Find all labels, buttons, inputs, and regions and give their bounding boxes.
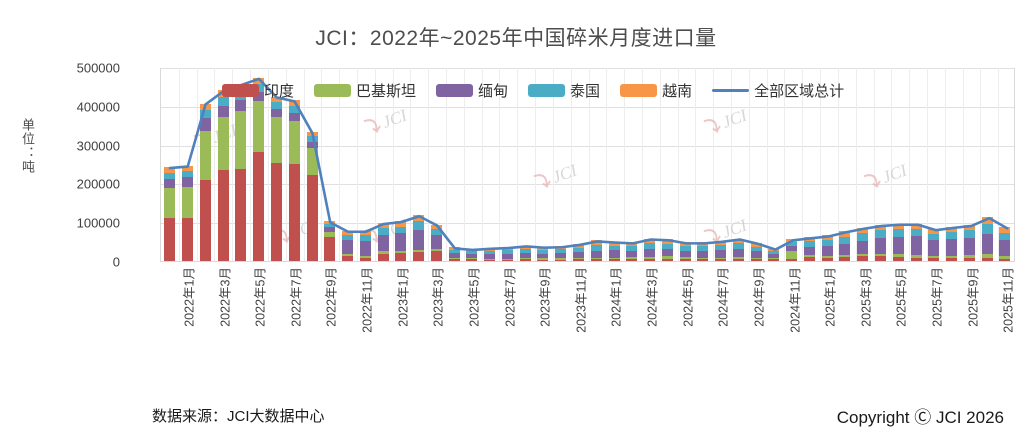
- bar-segment-thailand: [964, 230, 975, 238]
- bar-segment-pakistan: [271, 117, 282, 163]
- stacked-bar[interactable]: [609, 242, 620, 261]
- x-tick-slot: [178, 265, 196, 375]
- bar-segment-pakistan: [218, 117, 229, 169]
- y-tick-label: 100000: [30, 216, 120, 231]
- bar-segment-india: [946, 258, 957, 261]
- bar-segment-india: [502, 260, 513, 261]
- legend-label: 印度: [264, 80, 294, 101]
- bar-segment-thailand: [857, 233, 868, 241]
- x-tick-slot: 2022年7月: [267, 265, 285, 375]
- stacked-bar[interactable]: [875, 225, 886, 261]
- bar-segment-india: [893, 257, 904, 261]
- legend-item-india[interactable]: 印度: [222, 80, 294, 101]
- stacked-bar[interactable]: [307, 132, 318, 261]
- stacked-bar[interactable]: [395, 221, 406, 261]
- bar-segment-thailand: [395, 227, 406, 234]
- bar-segment-thailand: [289, 106, 300, 113]
- x-tick-slot: 2024年3月: [623, 265, 641, 375]
- bar-segment-india: [395, 253, 406, 261]
- x-tick-slot: 2025年7月: [908, 265, 926, 375]
- stacked-bar[interactable]: [911, 224, 922, 261]
- x-tick-slot: 2024年9月: [730, 265, 748, 375]
- stacked-bar[interactable]: [324, 221, 335, 261]
- stacked-bar[interactable]: [644, 239, 655, 261]
- bar-segment-india: [839, 257, 850, 261]
- bar-segment-india: [413, 252, 424, 261]
- x-tick-slot: [213, 265, 231, 375]
- stacked-bar[interactable]: [218, 90, 229, 261]
- x-tick-slot: [997, 265, 1015, 375]
- legend-line-icon: [712, 89, 749, 92]
- x-tick-slot: 2025年5月: [873, 265, 891, 375]
- stacked-bar[interactable]: [271, 97, 282, 261]
- bar-segment-myanmar: [839, 244, 850, 256]
- stacked-bar[interactable]: [999, 227, 1010, 261]
- x-tick-slot: [498, 265, 516, 375]
- bar-segment-pakistan: [235, 111, 246, 169]
- legend-item-myanmar[interactable]: 缅甸: [436, 80, 508, 101]
- x-tick-slot: 2022年3月: [196, 265, 214, 375]
- x-tick-slot: [712, 265, 730, 375]
- bar-segment-india: [484, 260, 495, 261]
- legend-swatch-icon: [620, 84, 657, 97]
- stacked-bar[interactable]: [839, 231, 850, 261]
- x-tick-slot: [677, 265, 695, 375]
- bar-slot: [960, 68, 978, 261]
- y-tick-label: 300000: [30, 138, 120, 153]
- bar-segment-india: [182, 218, 193, 261]
- chart-root: JCI：2022年~2025年中国碎米月度进口量 单位：吨 0100000200…: [0, 0, 1032, 441]
- bar-segment-myanmar: [644, 249, 655, 258]
- x-tick-slot: 2023年1月: [374, 265, 392, 375]
- stacked-bar[interactable]: [360, 231, 371, 261]
- bar-segment-myanmar: [964, 238, 975, 255]
- bar-segment-thailand: [875, 230, 886, 238]
- copyright-note: Copyright Ⓒ JCI 2026: [837, 403, 1004, 428]
- bar-segment-india: [768, 259, 779, 261]
- bar-segment-india: [164, 218, 175, 261]
- stacked-bar[interactable]: [502, 247, 513, 261]
- x-tick-slot: 2025年3月: [837, 265, 855, 375]
- bar-slot: [996, 68, 1014, 261]
- stacked-bar[interactable]: [413, 215, 424, 261]
- bar-segment-india: [360, 258, 371, 261]
- stacked-bar[interactable]: [822, 235, 833, 261]
- x-axis-labels: 2022年1月2022年3月2022年5月2022年7月2022年9月2022年…: [160, 265, 1015, 375]
- stacked-bar[interactable]: [253, 78, 264, 261]
- x-tick-slot: 2022年5月: [231, 265, 249, 375]
- bar-slot: [161, 68, 179, 261]
- bar-segment-india: [520, 259, 531, 261]
- bar-segment-pakistan: [253, 101, 264, 151]
- bar-segment-myanmar: [928, 240, 939, 256]
- x-tick-slot: [570, 265, 588, 375]
- chart-title: JCI：2022年~2025年中国碎米月度进口量: [0, 22, 1032, 52]
- stacked-bar[interactable]: [555, 246, 566, 261]
- x-tick-slot: 2024年7月: [694, 265, 712, 375]
- bar-segment-pakistan: [164, 188, 175, 218]
- bar-segment-myanmar: [875, 238, 886, 254]
- bar-segment-pakistan: [200, 131, 211, 181]
- bar-segment-india: [999, 259, 1010, 261]
- stacked-bar[interactable]: [182, 166, 193, 261]
- x-tick-slot: 2025年1月: [801, 265, 819, 375]
- bar-segment-myanmar: [733, 249, 744, 258]
- bar-segment-myanmar: [946, 239, 957, 255]
- legend-item-total[interactable]: 全部区域总计: [712, 80, 844, 101]
- bar-segment-india: [307, 175, 318, 261]
- bar-slot: [197, 68, 215, 261]
- stacked-bar[interactable]: [715, 241, 726, 261]
- bar-segment-india: [573, 259, 584, 261]
- bar-segment-india: [715, 259, 726, 261]
- stacked-bar[interactable]: [697, 242, 708, 261]
- stacked-bar[interactable]: [289, 100, 300, 261]
- x-tick-slot: [641, 265, 659, 375]
- legend-label: 全部区域总计: [754, 80, 844, 101]
- bar-segment-india: [751, 259, 762, 261]
- bar-segment-india: [537, 260, 548, 261]
- stacked-bar[interactable]: [662, 239, 673, 261]
- bar-slot: [978, 68, 996, 261]
- stacked-bar[interactable]: [449, 247, 460, 261]
- x-tick-slot: 2022年9月: [303, 265, 321, 375]
- bar-slot: [179, 68, 197, 261]
- bar-segment-thailand: [911, 229, 922, 236]
- bar-segment-india: [235, 169, 246, 261]
- bar-segment-india: [911, 258, 922, 261]
- bar-segment-thailand: [200, 110, 211, 118]
- x-tick-slot: [819, 265, 837, 375]
- x-tick-slot: [605, 265, 623, 375]
- bar-segment-myanmar: [413, 230, 424, 250]
- bar-segment-india: [680, 259, 691, 261]
- bar-segment-india: [697, 259, 708, 261]
- bar-segment-vietnam: [982, 217, 993, 224]
- bar-segment-india: [431, 251, 442, 261]
- x-tick-slot: 2024年5月: [659, 265, 677, 375]
- bar-segment-india: [875, 256, 886, 261]
- bar-segment-myanmar: [697, 251, 708, 258]
- legend-swatch-icon: [436, 84, 473, 97]
- stacked-bar[interactable]: [431, 225, 442, 261]
- bar-segment-pakistan: [289, 121, 300, 164]
- legend-item-thailand[interactable]: 泰国: [528, 80, 600, 101]
- bar-segment-india: [324, 237, 335, 261]
- bar-slot: [943, 68, 961, 261]
- x-tick-slot: [890, 265, 908, 375]
- bar-slot: [872, 68, 890, 261]
- x-tick-slot: [249, 265, 267, 375]
- bar-segment-india: [822, 258, 833, 261]
- stacked-bar[interactable]: [928, 229, 939, 261]
- x-tick-slot: 2025年11月: [979, 265, 997, 375]
- bar-segment-india: [449, 259, 460, 261]
- stacked-bar[interactable]: [378, 223, 389, 261]
- bar-segment-india: [609, 259, 620, 261]
- bar-segment-thailand: [893, 229, 904, 237]
- legend-item-vietnam[interactable]: 越南: [620, 80, 692, 101]
- x-tick-slot: 2023年9月: [516, 265, 534, 375]
- x-tick-slot: [320, 265, 338, 375]
- bar-segment-myanmar: [911, 236, 922, 255]
- x-tick-slot: [285, 265, 303, 375]
- legend-item-pakistan[interactable]: 巴基斯坦: [314, 80, 416, 101]
- bar-segment-myanmar: [235, 100, 246, 111]
- bar-segment-india: [964, 258, 975, 261]
- stacked-bar[interactable]: [537, 247, 548, 261]
- bar-segment-myanmar: [218, 106, 229, 118]
- x-tick-slot: [855, 265, 873, 375]
- chart-legend: 印度巴基斯坦缅甸泰国越南全部区域总计: [222, 80, 844, 101]
- bar-segment-thailand: [999, 233, 1010, 241]
- stacked-bar[interactable]: [946, 227, 957, 261]
- x-tick-slot: 2022年1月: [160, 265, 178, 375]
- bar-segment-india: [786, 259, 797, 261]
- bar-segment-myanmar: [822, 246, 833, 256]
- legend-label: 越南: [662, 80, 692, 101]
- bar-segment-thailand: [271, 102, 282, 109]
- stacked-bar[interactable]: [235, 84, 246, 261]
- bar-segment-myanmar: [164, 179, 175, 188]
- bar-segment-india: [644, 259, 655, 261]
- legend-label: 缅甸: [478, 80, 508, 101]
- stacked-bar[interactable]: [964, 225, 975, 261]
- x-tick-slot: [962, 265, 980, 375]
- legend-swatch-icon: [222, 84, 259, 97]
- bar-segment-vietnam: [200, 104, 211, 111]
- x-tick-slot: 2023年3月: [409, 265, 427, 375]
- x-tick-slot: [783, 265, 801, 375]
- stacked-bar[interactable]: [982, 217, 993, 261]
- bar-segment-india: [733, 259, 744, 261]
- x-tick-slot: [356, 265, 374, 375]
- x-tick-slot: 2023年5月: [445, 265, 463, 375]
- stacked-bar[interactable]: [520, 246, 531, 261]
- bar-segment-india: [857, 256, 868, 261]
- bar-segment-india: [662, 259, 673, 261]
- x-tick-slot: 2025年9月: [944, 265, 962, 375]
- legend-swatch-icon: [528, 84, 565, 97]
- bar-segment-thailand: [413, 221, 424, 230]
- stacked-bar[interactable]: [342, 231, 353, 261]
- bar-segment-myanmar: [804, 247, 815, 256]
- bar-segment-india: [928, 258, 939, 261]
- stacked-bar[interactable]: [680, 242, 691, 261]
- bar-segment-myanmar: [857, 241, 868, 254]
- legend-label: 巴基斯坦: [356, 80, 416, 101]
- x-tick-slot: [392, 265, 410, 375]
- bar-segment-india: [804, 257, 815, 261]
- x-tick-slot: [463, 265, 481, 375]
- bar-segment-india: [342, 256, 353, 261]
- bar-segment-thailand: [839, 237, 850, 244]
- bar-segment-myanmar: [662, 249, 673, 256]
- bar-segment-myanmar: [609, 250, 620, 258]
- stacked-bar[interactable]: [893, 224, 904, 261]
- bar-segment-myanmar: [182, 177, 193, 187]
- stacked-bar[interactable]: [786, 239, 797, 261]
- bar-segment-myanmar: [342, 240, 353, 254]
- bar-segment-india: [626, 259, 637, 261]
- bar-segment-myanmar: [431, 235, 442, 249]
- stacked-bar[interactable]: [164, 167, 175, 261]
- y-tick-label: 400000: [30, 99, 120, 114]
- y-axis-ticks: 0100000200000300000400000500000: [28, 0, 120, 441]
- data-source-note: 数据来源：JCI大数据中心: [152, 405, 325, 426]
- bar-segment-india: [591, 259, 602, 261]
- y-tick-label: 0: [30, 255, 120, 270]
- bar-segment-pakistan: [182, 187, 193, 217]
- x-tick-slot: [427, 265, 445, 375]
- stacked-bar[interactable]: [857, 228, 868, 261]
- bar-segment-india: [253, 152, 264, 261]
- bar-segment-india: [218, 170, 229, 261]
- bar-segment-myanmar: [893, 237, 904, 254]
- stacked-bar[interactable]: [591, 240, 602, 261]
- bar-segment-india: [200, 180, 211, 261]
- x-tick-slot: 2023年7月: [481, 265, 499, 375]
- bar-segment-thailand: [982, 224, 993, 234]
- bar-segment-thailand: [946, 232, 957, 239]
- x-tick-slot: [534, 265, 552, 375]
- bar-slot: [889, 68, 907, 261]
- bar-segment-india: [289, 164, 300, 261]
- stacked-bar[interactable]: [200, 104, 211, 261]
- bar-segment-myanmar: [395, 233, 406, 250]
- bar-segment-myanmar: [715, 250, 726, 258]
- bar-segment-myanmar: [378, 235, 389, 251]
- legend-label: 泰国: [570, 80, 600, 101]
- stacked-bar[interactable]: [768, 249, 779, 261]
- stacked-bar[interactable]: [804, 237, 815, 261]
- stacked-bar[interactable]: [626, 242, 637, 261]
- stacked-bar[interactable]: [751, 243, 762, 261]
- bar-slot: [854, 68, 872, 261]
- bar-slot: [925, 68, 943, 261]
- bar-segment-myanmar: [360, 241, 371, 256]
- bar-segment-myanmar: [289, 113, 300, 121]
- y-tick-label: 200000: [30, 177, 120, 192]
- bar-segment-myanmar: [982, 234, 993, 253]
- bar-segment-myanmar: [200, 118, 211, 130]
- bar-segment-myanmar: [591, 251, 602, 258]
- legend-swatch-icon: [314, 84, 351, 97]
- x-tick-slot: 2022年11月: [338, 265, 356, 375]
- x-tick-slot: 2023年11月: [552, 265, 570, 375]
- bar-segment-india: [378, 254, 389, 261]
- x-tick-slot: [748, 265, 766, 375]
- stacked-bar[interactable]: [466, 249, 477, 261]
- stacked-bar[interactable]: [733, 239, 744, 261]
- bar-slot: [907, 68, 925, 261]
- y-tick-label: 500000: [30, 61, 120, 76]
- bar-segment-pakistan: [786, 251, 797, 260]
- x-tick-slot: 2024年1月: [588, 265, 606, 375]
- x-tick-slot: 2024年11月: [766, 265, 784, 375]
- bar-segment-india: [982, 258, 993, 261]
- bar-segment-pakistan: [307, 148, 318, 175]
- bar-segment-india: [555, 260, 566, 261]
- bar-segment-myanmar: [999, 240, 1010, 256]
- bar-segment-myanmar: [271, 109, 282, 118]
- stacked-bar[interactable]: [573, 244, 584, 261]
- bar-segment-india: [271, 163, 282, 261]
- x-tick-slot: [926, 265, 944, 375]
- bar-segment-india: [466, 259, 477, 261]
- stacked-bar[interactable]: [484, 248, 495, 261]
